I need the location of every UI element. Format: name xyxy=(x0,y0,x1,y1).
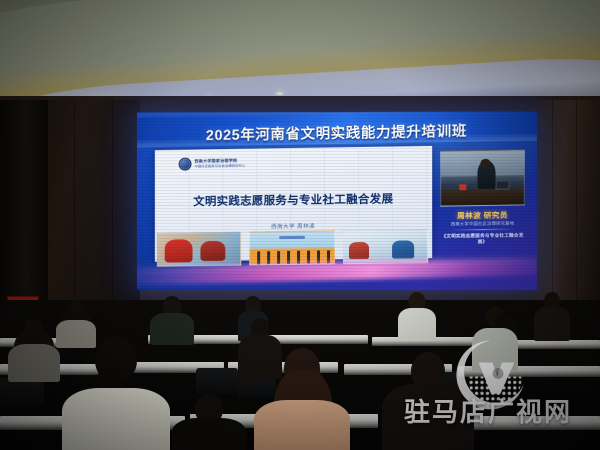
speaker-divider xyxy=(448,229,516,231)
wood-panel-right xyxy=(534,100,600,315)
red-cup xyxy=(459,185,466,191)
audience-member-4 xyxy=(398,292,436,340)
auditorium-photo: 2025年河南省文明实践能力提升培训班 西南大学国家治理学院 中国社区服务与社会… xyxy=(0,0,600,450)
university-emblem-icon xyxy=(179,158,192,171)
audience-member-foreground-4 xyxy=(172,394,246,450)
slide-university-logo: 西南大学国家治理学院 中国社区服务与社会治理研究中心 xyxy=(179,157,246,171)
audience-member-6 xyxy=(8,318,60,380)
downlight-3 xyxy=(276,92,283,95)
audience-member-foreground-1 xyxy=(62,336,170,450)
watermark-text: 驻马店广视网 xyxy=(404,392,596,429)
speaker-video-feed xyxy=(440,149,525,206)
speaker-org: 西南大学中国社区治理研究基地 xyxy=(440,220,525,227)
logo-line-2: 中国社区服务与社会治理研究中心 xyxy=(194,164,245,168)
led-presentation-screen: 2025年河南省文明实践能力提升培训班 西南大学国家治理学院 中国社区服务与社会… xyxy=(137,112,537,291)
stage-curtain xyxy=(0,100,48,315)
speaker-topic: 《文明实践志愿服务与专业社工融合发展》 xyxy=(440,233,525,246)
chair-1 xyxy=(196,368,238,394)
audience-member-foreground-2 xyxy=(254,348,350,450)
speaker-panel: 周林波 研究员 西南大学中国社区治理研究基地 《文明实践志愿服务与专业社工融合发… xyxy=(440,149,525,263)
chair-4 xyxy=(0,378,44,406)
photo-home-visit xyxy=(157,232,242,267)
audience-member-5 xyxy=(534,292,570,340)
laptop-icon xyxy=(496,181,510,190)
photo-classroom-activity xyxy=(250,230,335,265)
